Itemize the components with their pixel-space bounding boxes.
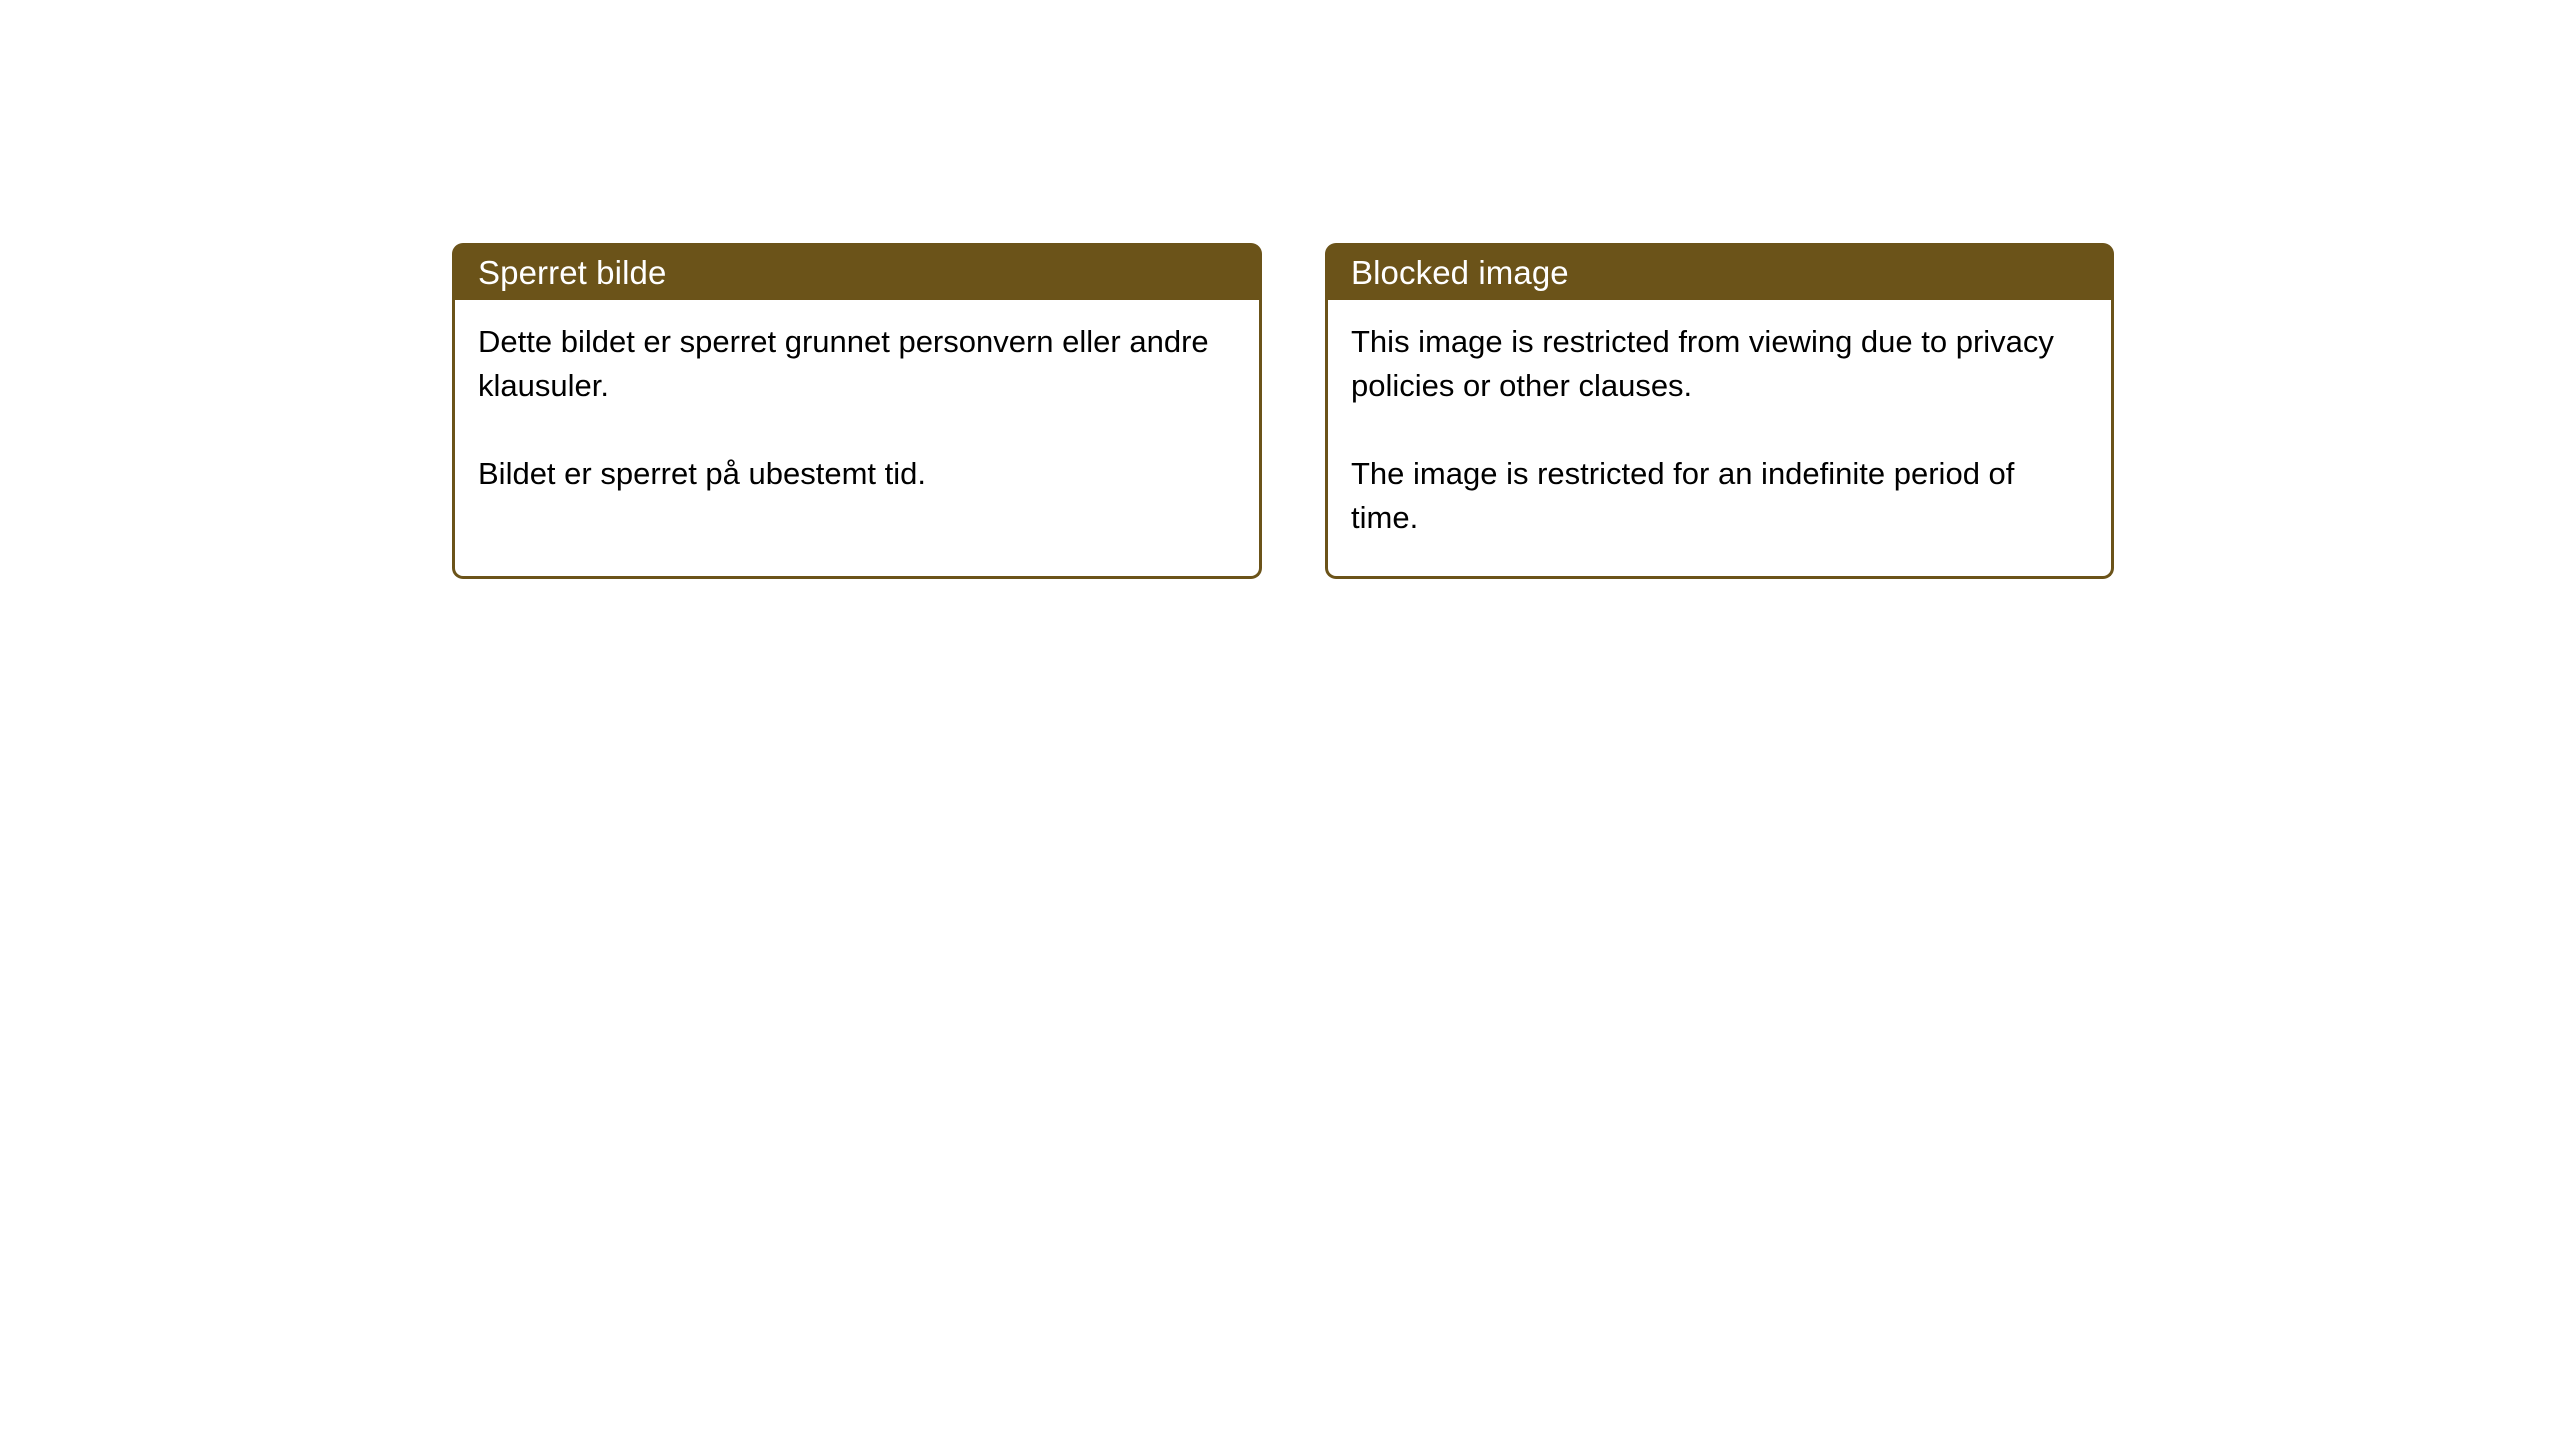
card-body-norwegian: Dette bildet er sperret grunnet personve… <box>452 300 1262 579</box>
card-paragraph-norwegian-1: Dette bildet er sperret grunnet personve… <box>478 320 1233 408</box>
blocked-image-card-norwegian: Sperret bilde Dette bildet er sperret gr… <box>452 243 1262 579</box>
card-paragraph-norwegian-2: Bildet er sperret på ubestemt tid. <box>478 452 1233 496</box>
card-paragraph-english-2: The image is restricted for an indefinit… <box>1351 452 2085 540</box>
card-title-norwegian: Sperret bilde <box>478 256 666 289</box>
card-header-english: Blocked image <box>1325 243 2114 300</box>
card-paragraph-english-1: This image is restricted from viewing du… <box>1351 320 2085 408</box>
blocked-image-card-english: Blocked image This image is restricted f… <box>1325 243 2114 579</box>
paragraph-spacer <box>478 408 1233 452</box>
card-body-english: This image is restricted from viewing du… <box>1325 300 2114 579</box>
page-canvas: Sperret bilde Dette bildet er sperret gr… <box>0 0 2560 1440</box>
card-title-english: Blocked image <box>1351 256 1569 289</box>
card-header-norwegian: Sperret bilde <box>452 243 1262 300</box>
paragraph-spacer <box>1351 408 2085 452</box>
